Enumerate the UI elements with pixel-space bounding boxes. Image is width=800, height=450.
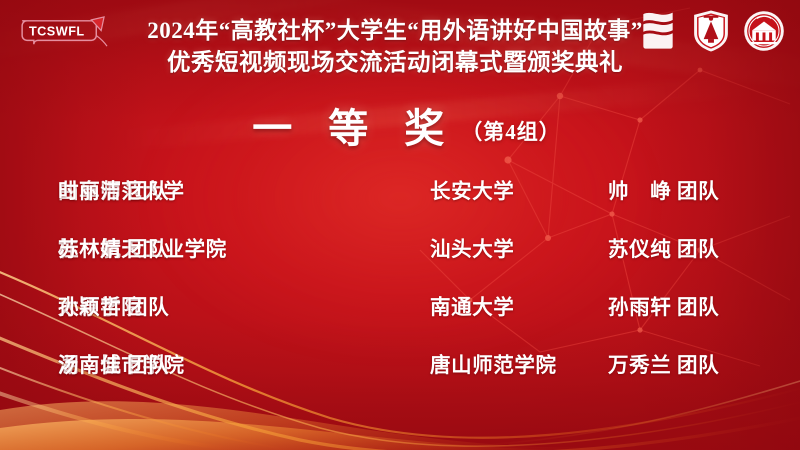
emblem-round-seal xyxy=(742,8,786,54)
winners-list: 曲阜师范大学 时丽洁 团队 长安大学 帅 峥 团队 桂林航天工业学院 苏 婧 团… xyxy=(58,160,758,392)
winner-row: 太原学院 孙颖哲 团队 南通大学 孙雨轩 团队 xyxy=(58,276,758,334)
winner-school: 汕头大学 xyxy=(430,232,514,262)
winner-row: 曲阜师范大学 时丽洁 团队 长安大学 帅 峥 团队 xyxy=(58,160,758,218)
winner-school: 长安大学 xyxy=(430,174,514,204)
winner-team: 苏仪纯 团队 xyxy=(608,232,758,262)
event-title: 2024年“高教社杯”大学生“用外语讲好中国故事” 优秀短视频现场交流活动闭幕式… xyxy=(118,14,672,80)
tcswfl-logo-text: TCSWFL xyxy=(29,24,85,38)
winner-team: 时丽洁 团队 xyxy=(58,174,208,204)
winner-entry: 长安大学 帅 峥 团队 xyxy=(430,174,758,204)
winner-entry: 太原学院 孙颖哲 团队 xyxy=(58,290,430,320)
winner-team: 孙雨轩 团队 xyxy=(608,290,758,320)
winner-entry: 曲阜师范大学 时丽洁 团队 xyxy=(58,174,430,204)
winner-team: 帅 峥 团队 xyxy=(608,174,758,204)
winner-row: 桂林航天工业学院 苏 婧 团队 汕头大学 苏仪纯 团队 xyxy=(58,218,758,276)
award-heading: 一 等 奖 （第4组） xyxy=(0,96,800,154)
winner-school: 南通大学 xyxy=(430,290,514,320)
winner-row: 湖南城市学院 汤 佳 团队 唐山师范学院 万秀兰 团队 xyxy=(58,334,758,392)
presentation-slide: TCSWFL xyxy=(0,0,800,450)
winner-team: 汤 佳 团队 xyxy=(58,348,208,378)
emblem-shield xyxy=(689,8,733,54)
winner-entry: 汕头大学 苏仪纯 团队 xyxy=(430,232,758,262)
award-group-label: （第4组） xyxy=(461,116,561,146)
tcswfl-logo: TCSWFL xyxy=(18,14,116,54)
winner-entry: 湖南城市学院 汤 佳 团队 xyxy=(58,348,430,378)
award-name: 一 等 奖 xyxy=(239,96,457,154)
event-title-line-2: 优秀短视频现场交流活动闭幕式暨颁奖典礼 xyxy=(118,47,672,80)
winner-school: 唐山师范学院 xyxy=(430,348,557,378)
winner-entry: 桂林航天工业学院 苏 婧 团队 xyxy=(58,232,430,262)
winner-entry: 唐山师范学院 万秀兰 团队 xyxy=(430,348,758,378)
winner-entry: 南通大学 孙雨轩 团队 xyxy=(430,290,758,320)
winner-team: 万秀兰 团队 xyxy=(608,348,758,378)
winner-team: 苏 婧 团队 xyxy=(58,232,208,262)
winner-team: 孙颖哲 团队 xyxy=(58,290,208,320)
event-title-line-1: 2024年“高教社杯”大学生“用外语讲好中国故事” xyxy=(118,14,672,47)
